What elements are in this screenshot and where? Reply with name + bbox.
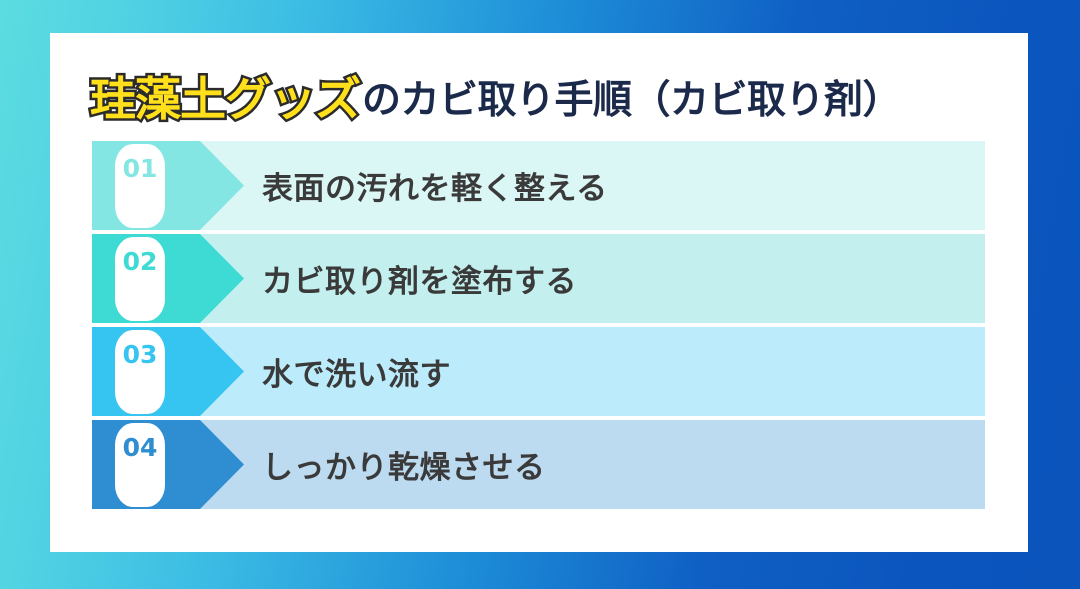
step-number: 02 [115, 249, 165, 274]
step-number-badge: 04 [115, 423, 165, 507]
step-label: 表面の汚れを軽く整える [262, 141, 608, 230]
step-number-badge: 02 [115, 237, 165, 321]
step-number-badge: 01 [115, 144, 165, 228]
step-number: 01 [115, 156, 165, 181]
step-row: 02 カビ取り剤を塗布する [92, 234, 985, 323]
content-card: 珪藻土グッズのカビ取り手順（カビ取り剤） 01 表面の汚れを軽く整える 02 カ… [50, 33, 1028, 552]
page-title-rest: のカビ取り手順（カビ取り剤） [362, 81, 901, 120]
steps-list: 01 表面の汚れを軽く整える 02 カビ取り剤を塗布する 03 水で洗い流す [92, 141, 985, 509]
step-number-badge: 03 [115, 330, 165, 414]
step-label: 水で洗い流す [262, 327, 451, 416]
step-row: 01 表面の汚れを軽く整える [92, 141, 985, 230]
page-title-highlight: 珪藻土グッズ [90, 76, 360, 122]
step-row: 03 水で洗い流す [92, 327, 985, 416]
step-number: 04 [115, 435, 165, 460]
step-row: 04 しっかり乾燥させる [92, 420, 985, 509]
infographic-canvas: 珪藻土グッズのカビ取り手順（カビ取り剤） 01 表面の汚れを軽く整える 02 カ… [0, 0, 1080, 589]
step-number: 03 [115, 342, 165, 367]
step-label: カビ取り剤を塗布する [262, 234, 577, 323]
step-label: しっかり乾燥させる [262, 420, 546, 509]
page-title: 珪藻土グッズのカビ取り手順（カビ取り剤） [90, 69, 990, 131]
